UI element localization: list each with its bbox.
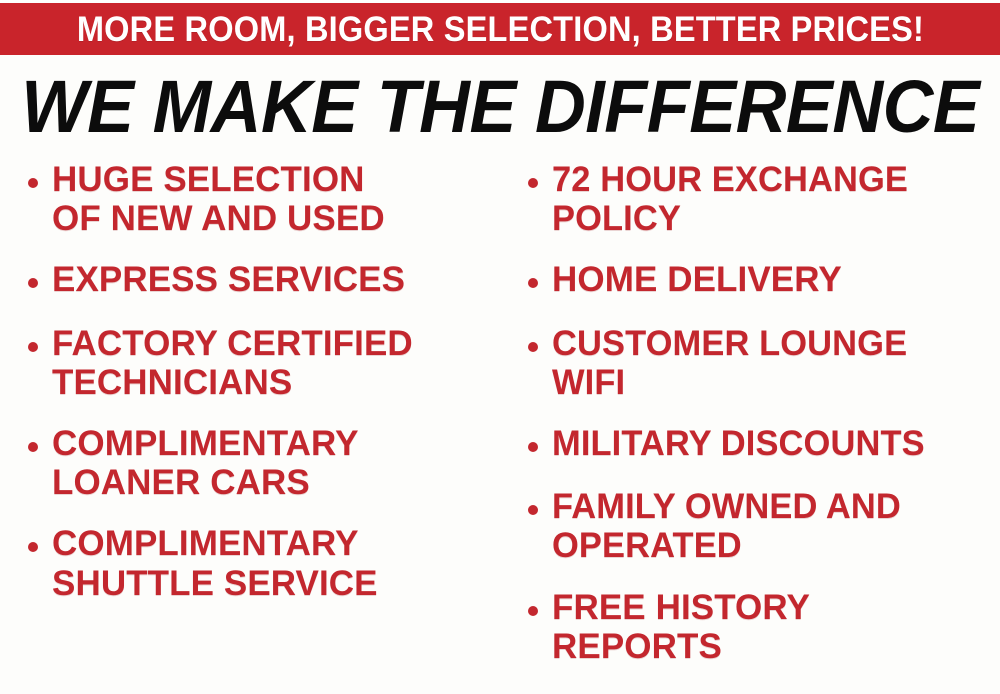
list-item: EXPRESS SERVICES <box>18 260 498 299</box>
list-item: MILITARY DISCOUNTS <box>518 424 1000 463</box>
list-item-label: FACTORY CERTIFIED TECHNICIANS <box>52 324 498 402</box>
bullet-dot-icon <box>28 542 38 552</box>
bullet-dot-icon <box>528 342 538 352</box>
benefits-column-left: HUGE SELECTION OF NEW AND USED EXPRESS S… <box>18 160 498 615</box>
bullet-dot-icon <box>528 505 538 515</box>
promo-banner-text: MORE ROOM, BIGGER SELECTION, BETTER PRIC… <box>76 12 923 47</box>
list-item-label: HOME DELIVERY <box>552 260 1000 299</box>
advertisement-banner: MORE ROOM, BIGGER SELECTION, BETTER PRIC… <box>0 0 1000 694</box>
list-item-label: COMPLIMENTARY SHUTTLE SERVICE <box>52 524 498 602</box>
headline-container: WE MAKE THE DIFFERENCE <box>0 68 1000 146</box>
page-title: WE MAKE THE DIFFERENCE <box>21 70 979 144</box>
list-item-label: HUGE SELECTION OF NEW AND USED <box>52 160 498 238</box>
benefits-column-right: 72 HOUR EXCHANGE POLICY HOME DELIVERY CU… <box>518 160 1000 678</box>
list-item-label: MILITARY DISCOUNTS <box>552 424 925 463</box>
bullet-dot-icon <box>28 278 38 288</box>
bullet-dot-icon <box>28 442 38 452</box>
list-item-label: CUSTOMER LOUNGE WIFI <box>552 324 907 402</box>
list-item: HOME DELIVERY <box>518 260 1000 299</box>
bullet-dot-icon <box>528 278 538 288</box>
list-item: CUSTOMER LOUNGE WIFI <box>518 324 1000 402</box>
bullet-dot-icon <box>28 178 38 188</box>
list-item-label: FREE HISTORY REPORTS <box>552 588 1000 666</box>
list-item: COMPLIMENTARY SHUTTLE SERVICE <box>18 524 498 602</box>
bullet-dot-icon <box>528 606 538 616</box>
bullet-dot-icon <box>528 442 538 452</box>
list-item-label: FAMILY OWNED AND OPERATED <box>552 487 901 565</box>
list-item-label: COMPLIMENTARY LOANER CARS <box>52 424 498 502</box>
list-item-label: 72 HOUR EXCHANGE POLICY <box>552 160 908 238</box>
benefits-columns: HUGE SELECTION OF NEW AND USED EXPRESS S… <box>0 160 1000 694</box>
list-item: 72 HOUR EXCHANGE POLICY <box>518 160 1000 238</box>
promo-banner: MORE ROOM, BIGGER SELECTION, BETTER PRIC… <box>0 3 1000 55</box>
list-item-label: EXPRESS SERVICES <box>52 260 498 299</box>
bullet-dot-icon <box>528 178 538 188</box>
bullet-dot-icon <box>28 342 38 352</box>
list-item: COMPLIMENTARY LOANER CARS <box>18 424 498 502</box>
list-item: FREE HISTORY REPORTS <box>518 588 1000 666</box>
list-item: FACTORY CERTIFIED TECHNICIANS <box>18 324 498 402</box>
list-item: FAMILY OWNED AND OPERATED <box>518 487 1000 565</box>
list-item: HUGE SELECTION OF NEW AND USED <box>18 160 498 238</box>
